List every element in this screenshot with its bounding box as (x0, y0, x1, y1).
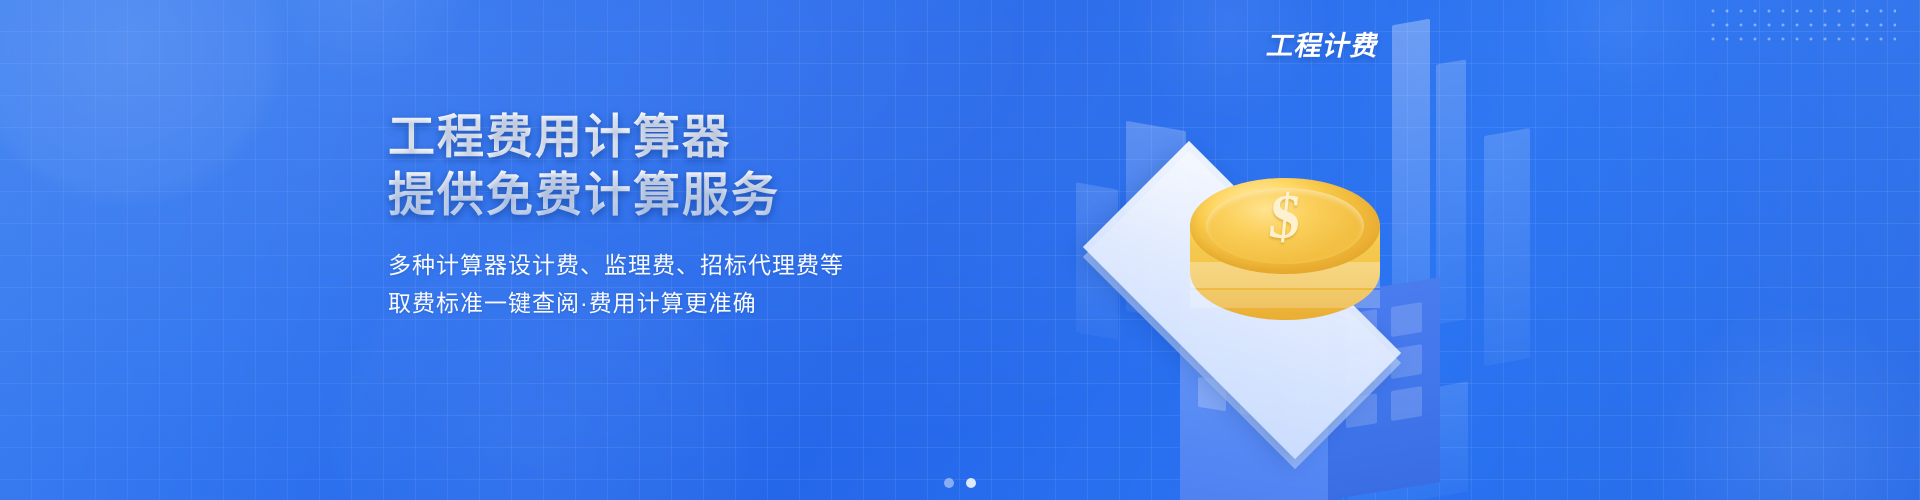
building-side-face (1328, 277, 1440, 500)
dot-matrix-decoration (1706, 4, 1896, 48)
building-window (1282, 306, 1310, 340)
coin-rim-2 (1190, 290, 1380, 308)
building-window (1346, 351, 1377, 386)
coin-rim-1 (1190, 262, 1380, 288)
platform-edge (1083, 151, 1401, 469)
dollar-sign-icon: $ (1187, 185, 1384, 248)
building-front-face (1180, 268, 1328, 500)
coin-stack-icon: $ (1190, 178, 1380, 328)
decorative-circle-2 (250, 0, 480, 80)
decorative-circle-1 (0, 0, 290, 210)
hero-banner: 工程费用计算器 提供免费计算服务 多种计算器设计费、监理费、招标代理费等 取费标… (0, 0, 1920, 500)
building-window (1391, 344, 1422, 379)
carousel-dot-1[interactable] (944, 478, 954, 488)
coin-glow (1158, 170, 1408, 320)
iso-bar-left-2 (1076, 182, 1118, 339)
building-window (1282, 390, 1310, 424)
subtitle-line-2: 取费标准一键查阅·费用计算更准确 (388, 284, 948, 322)
iso-bar-right-2 (1436, 59, 1466, 324)
coin-face-inner (1206, 188, 1364, 264)
platform-top (1083, 141, 1401, 459)
building-window (1346, 309, 1377, 344)
coin-face: $ (1190, 178, 1380, 274)
building-window-grid (1180, 268, 1328, 500)
building-window (1391, 386, 1422, 421)
building-side-window-grid (1328, 277, 1440, 500)
background-grid-mask (0, 0, 1920, 500)
banner-illustration: 工程计费 (1080, 0, 1640, 500)
coin-body (1190, 224, 1380, 320)
iso-bar-right-1 (1392, 19, 1430, 326)
building-window (1198, 293, 1226, 327)
building-window (1391, 302, 1422, 337)
decorative-circle-6 (1540, 0, 1700, 100)
banner-copy: 工程费用计算器 提供免费计算服务 多种计算器设计费、监理费、招标代理费等 取费标… (388, 108, 948, 322)
illustration-label: 工程计费 (1264, 24, 1384, 63)
decorative-circle-5 (1130, 0, 1330, 120)
building-window (1346, 393, 1377, 428)
building-window (1240, 384, 1268, 418)
background-grid (0, 0, 1920, 500)
headline-line-1: 工程费用计算器 (388, 110, 731, 163)
background-sheen (0, 0, 1920, 500)
building-window (1282, 348, 1310, 382)
decorative-circle-4 (1650, 300, 1920, 500)
building-window (1240, 342, 1268, 376)
headline-line-2: 提供免费计算服务 (388, 166, 948, 224)
subtitle-line-1: 多种计算器设计费、监理费、招标代理费等 (388, 246, 948, 284)
building-window (1198, 377, 1226, 411)
carousel-indicator[interactable] (0, 478, 1920, 488)
building-window (1240, 300, 1268, 334)
building-window (1198, 335, 1226, 369)
banner-headline: 工程费用计算器 提供免费计算服务 (388, 108, 948, 224)
carousel-dot-2[interactable] (966, 478, 976, 488)
iso-bar-right-3 (1484, 128, 1530, 366)
iso-bar-left-1 (1126, 121, 1186, 322)
